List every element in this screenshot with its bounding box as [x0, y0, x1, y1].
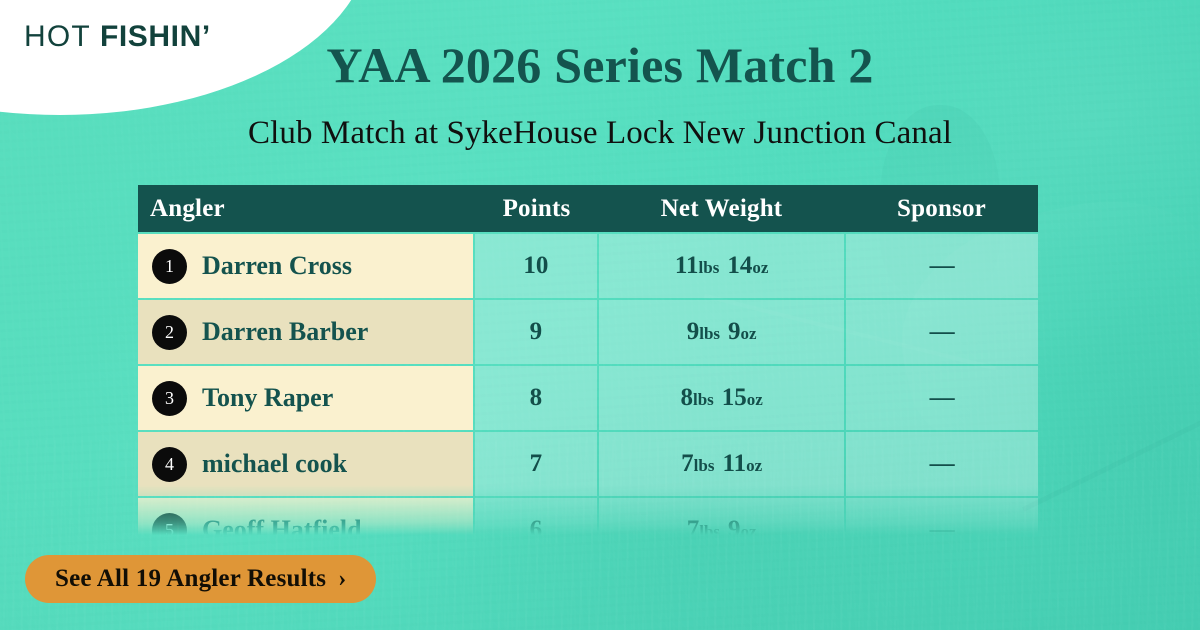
- cell-net-weight: 8lbs15oz: [599, 366, 844, 430]
- rank-badge: 1: [152, 249, 187, 284]
- weight-lbs-value: 8: [680, 384, 693, 412]
- cell-points: 6: [475, 498, 597, 535]
- weight-oz-value: 14: [727, 252, 752, 280]
- cell-sponsor: —: [846, 432, 1038, 496]
- chevron-right-icon: ›: [338, 567, 346, 591]
- cell-points: 8: [475, 366, 597, 430]
- cell-sponsor: —: [846, 498, 1038, 535]
- table-row[interactable]: 3Tony Raper88lbs15oz—: [138, 366, 1038, 430]
- sponsor-empty-dash: —: [930, 450, 955, 478]
- page-subtitle: Club Match at SykeHouse Lock New Junctio…: [0, 115, 1200, 152]
- table-row[interactable]: 4michael cook77lbs11oz—: [138, 432, 1038, 496]
- weight-oz-value: 9: [728, 516, 741, 535]
- angler-name: michael cook: [202, 449, 347, 479]
- column-header-sponsor: Sponsor: [845, 195, 1038, 223]
- cell-sponsor: —: [846, 366, 1038, 430]
- cell-net-weight: 11lbs14oz: [599, 234, 844, 298]
- rank-badge: 4: [152, 447, 187, 482]
- angler-name: Tony Raper: [202, 383, 333, 413]
- weight-oz-value: 9: [728, 318, 741, 346]
- sponsor-empty-dash: —: [930, 516, 955, 535]
- brand-logo-fishin: FISHIN’: [100, 20, 211, 53]
- cell-angler: 4michael cook: [138, 432, 473, 496]
- cell-net-weight: 7lbs11oz: [599, 432, 844, 496]
- weight-lbs-unit: lbs: [699, 522, 720, 535]
- table-row[interactable]: 5Geoff Hatfield67lbs9oz—: [138, 498, 1038, 535]
- weight-lbs-value: 9: [687, 318, 700, 346]
- weight-oz-unit: oz: [741, 324, 757, 344]
- cell-points: 9: [475, 300, 597, 364]
- angler-name: Geoff Hatfield: [202, 515, 362, 535]
- see-all-results-button[interactable]: See All 19 Angler Results ›: [25, 555, 376, 603]
- table-header-row: Angler Points Net Weight Sponsor: [138, 185, 1038, 232]
- weight-lbs-value: 7: [687, 516, 700, 535]
- cell-sponsor: —: [846, 234, 1038, 298]
- cell-angler: 3Tony Raper: [138, 366, 473, 430]
- brand-logo-hot: HOT: [24, 20, 90, 53]
- table-row[interactable]: 1Darren Cross1011lbs14oz—: [138, 234, 1038, 298]
- results-table: Angler Points Net Weight Sponsor 1Darren…: [138, 185, 1038, 535]
- rank-badge: 5: [152, 513, 187, 536]
- cell-sponsor: —: [846, 300, 1038, 364]
- column-header-angler: Angler: [138, 195, 475, 223]
- weight-oz-unit: oz: [741, 522, 757, 535]
- cell-net-weight: 7lbs9oz: [599, 498, 844, 535]
- angler-name: Darren Barber: [202, 317, 368, 347]
- angler-name: Darren Cross: [202, 251, 352, 281]
- brand-logo[interactable]: HOT FISHIN’: [24, 22, 211, 52]
- weight-oz-unit: oz: [747, 390, 763, 410]
- weight-lbs-value: 7: [681, 450, 694, 478]
- cell-points: 10: [475, 234, 597, 298]
- table-row[interactable]: 2Darren Barber99lbs9oz—: [138, 300, 1038, 364]
- rank-badge: 2: [152, 315, 187, 350]
- cell-angler: 2Darren Barber: [138, 300, 473, 364]
- cell-net-weight: 9lbs9oz: [599, 300, 844, 364]
- table-body: 1Darren Cross1011lbs14oz—2Darren Barber9…: [138, 234, 1038, 535]
- weight-lbs-unit: lbs: [699, 258, 720, 278]
- weight-lbs-value: 11: [675, 252, 699, 280]
- cell-angler: 1Darren Cross: [138, 234, 473, 298]
- cell-angler: 5Geoff Hatfield: [138, 498, 473, 535]
- rank-badge: 3: [152, 381, 187, 416]
- weight-oz-value: 15: [722, 384, 747, 412]
- sponsor-empty-dash: —: [930, 318, 955, 346]
- sponsor-empty-dash: —: [930, 252, 955, 280]
- column-header-net-weight: Net Weight: [598, 195, 845, 223]
- weight-oz-value: 11: [722, 450, 746, 478]
- weight-lbs-unit: lbs: [699, 324, 720, 344]
- see-all-results-label: See All 19 Angler Results: [55, 565, 326, 593]
- sponsor-empty-dash: —: [930, 384, 955, 412]
- cell-points: 7: [475, 432, 597, 496]
- column-header-points: Points: [475, 195, 598, 223]
- weight-oz-unit: oz: [746, 456, 762, 476]
- weight-oz-unit: oz: [752, 258, 768, 278]
- weight-lbs-unit: lbs: [693, 390, 714, 410]
- weight-lbs-unit: lbs: [694, 456, 715, 476]
